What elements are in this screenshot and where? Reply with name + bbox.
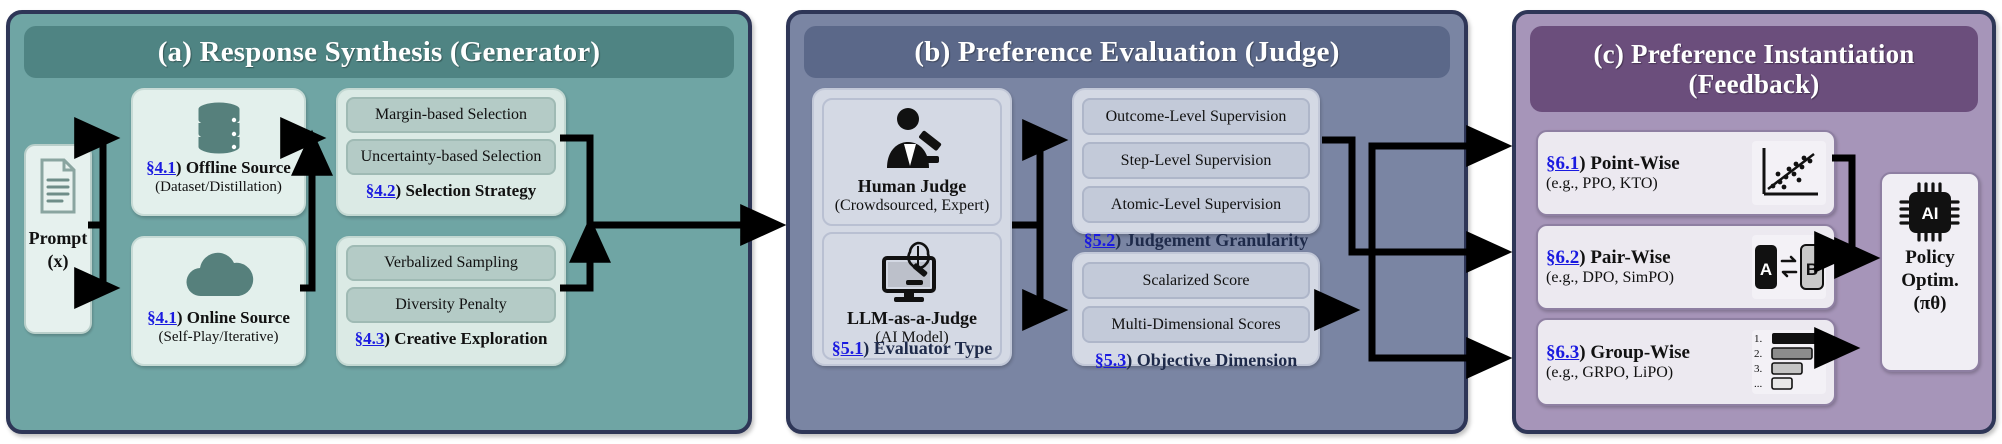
panel-b-title: (b) Preference Evaluation (Judge): [804, 26, 1450, 78]
document-icon: [36, 158, 80, 219]
svg-text:3.: 3.: [1754, 363, 1763, 375]
section-link-4-1-offline[interactable]: §4.1: [146, 158, 176, 177]
prompt-label-line2: (x): [29, 250, 88, 273]
creative-exploration-caption: ) Creative Exploration: [384, 329, 547, 348]
section-link-6-1[interactable]: §6.1: [1546, 153, 1579, 174]
online-source-name: ) Online Source: [177, 308, 290, 327]
ranked-list-icon: 1.2. 3....: [1752, 330, 1826, 394]
svg-text:1.: 1.: [1754, 333, 1763, 345]
chip-atomic-level-supervision[interactable]: Atomic-Level Supervision: [1082, 186, 1310, 223]
section-link-5-2[interactable]: §5.2: [1084, 230, 1116, 250]
chip-scalarized-score[interactable]: Scalarized Score: [1082, 262, 1310, 299]
selection-strategy-group: Margin-based Selection Uncertainty-based…: [336, 88, 566, 216]
section-link-4-3[interactable]: §4.3: [355, 329, 385, 348]
point-wise-row[interactable]: §6.1) Point-Wise (e.g., PPO, KTO): [1536, 130, 1836, 216]
policy-optim-box: AI Policy Optim. (πθ): [1880, 172, 1980, 372]
offline-source-name: ) Offline Source: [176, 158, 291, 177]
point-wise-name: ) Point-Wise: [1579, 153, 1679, 174]
group-wise-name: ) Group-Wise: [1579, 342, 1690, 363]
svg-text:2.: 2.: [1754, 348, 1763, 360]
pair-wise-name: ) Pair-Wise: [1579, 247, 1670, 268]
policy-line2: Optim.: [1901, 270, 1959, 293]
svg-text:AI: AI: [1922, 204, 1939, 223]
section-link-4-1-online[interactable]: §4.1: [147, 308, 177, 327]
selection-strategy-caption: ) Selection Strategy: [396, 181, 537, 200]
section-link-5-1[interactable]: §5.1: [832, 338, 864, 358]
chip-uncertainty-based-selection[interactable]: Uncertainty-based Selection: [346, 139, 556, 175]
panel-preference-evaluation: (b) Preference Evaluation (Judge) Human …: [786, 10, 1468, 434]
panel-c-title-line1: (c) Preference Instantiation: [1593, 39, 1914, 69]
section-link-6-2[interactable]: §6.2: [1546, 247, 1579, 268]
judgement-granularity-group: Outcome-Level Supervision Step-Level Sup…: [1072, 88, 1320, 234]
panel-a-title: (a) Response Synthesis (Generator): [24, 26, 734, 78]
llm-judge-title: LLM-as-a-Judge: [847, 309, 977, 329]
section-link-6-3[interactable]: §6.3: [1546, 342, 1579, 363]
section-link-5-3[interactable]: §5.3: [1095, 350, 1127, 370]
objective-dimension-group: Scalarized Score Multi-Dimensional Score…: [1072, 252, 1320, 366]
chip-outcome-level-supervision[interactable]: Outcome-Level Supervision: [1082, 98, 1310, 135]
prompt-label-line1: Prompt: [29, 227, 88, 250]
database-icon: [188, 98, 250, 159]
pair-wise-examples: (e.g., DPO, SimPO): [1546, 269, 1752, 287]
point-wise-examples: (e.g., PPO, KTO): [1546, 175, 1752, 193]
judge-person-icon: [875, 106, 949, 177]
svg-text:B: B: [1806, 260, 1818, 279]
offline-source-detail: (Dataset/Distillation): [155, 179, 282, 196]
objective-dimension-caption: ) Objective Dimension: [1126, 350, 1297, 370]
figure-canvas: (a) Response Synthesis (Generator) Promp…: [0, 0, 2002, 444]
section-link-4-2[interactable]: §4.2: [366, 181, 396, 200]
evaluator-type-caption: ) Evaluator Type: [863, 338, 992, 358]
evaluator-type-group: Human Judge (Crowdsourced, Expert): [812, 88, 1012, 366]
llm-monitor-brain-gavel-icon: [874, 240, 950, 309]
judgement-granularity-caption: ) Judgement Granularity: [1115, 230, 1308, 250]
group-wise-examples: (e.g., GRPO, LiPO): [1546, 364, 1752, 382]
panel-response-synthesis: (a) Response Synthesis (Generator) Promp…: [6, 10, 752, 434]
online-source-detail: (Self-Play/Iterative): [159, 329, 279, 346]
ab-swap-icon: A B: [1752, 235, 1826, 299]
human-judge-title: Human Judge: [858, 177, 967, 197]
panel-preference-instantiation: (c) Preference Instantiation (Feedback) …: [1512, 10, 1996, 434]
pair-wise-row[interactable]: §6.2) Pair-Wise (e.g., DPO, SimPO) A B: [1536, 224, 1836, 310]
human-judge-detail: (Crowdsourced, Expert): [835, 197, 990, 215]
chip-multi-dimensional-scores[interactable]: Multi-Dimensional Scores: [1082, 306, 1310, 343]
chip-verbalized-sampling[interactable]: Verbalized Sampling: [346, 245, 556, 281]
svg-text:...: ...: [1754, 378, 1763, 390]
human-judge-card: Human Judge (Crowdsourced, Expert): [822, 98, 1002, 226]
group-wise-row[interactable]: §6.3) Group-Wise (e.g., GRPO, LiPO) 1.2.…: [1536, 318, 1836, 406]
chip-margin-based-selection[interactable]: Margin-based Selection: [346, 97, 556, 133]
ai-chip-icon: AI: [1899, 182, 1961, 247]
panel-c-title-line2: (Feedback): [1689, 69, 1820, 99]
chip-step-level-supervision[interactable]: Step-Level Supervision: [1082, 142, 1310, 179]
svg-text:A: A: [1760, 260, 1772, 279]
offline-source-box: §4.1) Offline Source (Dataset/Distillati…: [131, 88, 306, 216]
prompt-box: Prompt (x): [24, 144, 92, 334]
panel-c-title: (c) Preference Instantiation (Feedback): [1530, 26, 1978, 112]
policy-line1: Policy: [1905, 247, 1955, 270]
creative-exploration-group: Verbalized Sampling Diversity Penalty §4…: [336, 236, 566, 366]
chip-diversity-penalty[interactable]: Diversity Penalty: [346, 287, 556, 323]
online-source-box: §4.1) Online Source (Self-Play/Iterative…: [131, 236, 306, 366]
cloud-icon: [179, 246, 259, 309]
scatter-plot-icon: [1752, 141, 1826, 205]
policy-line3: (πθ): [1914, 293, 1947, 316]
